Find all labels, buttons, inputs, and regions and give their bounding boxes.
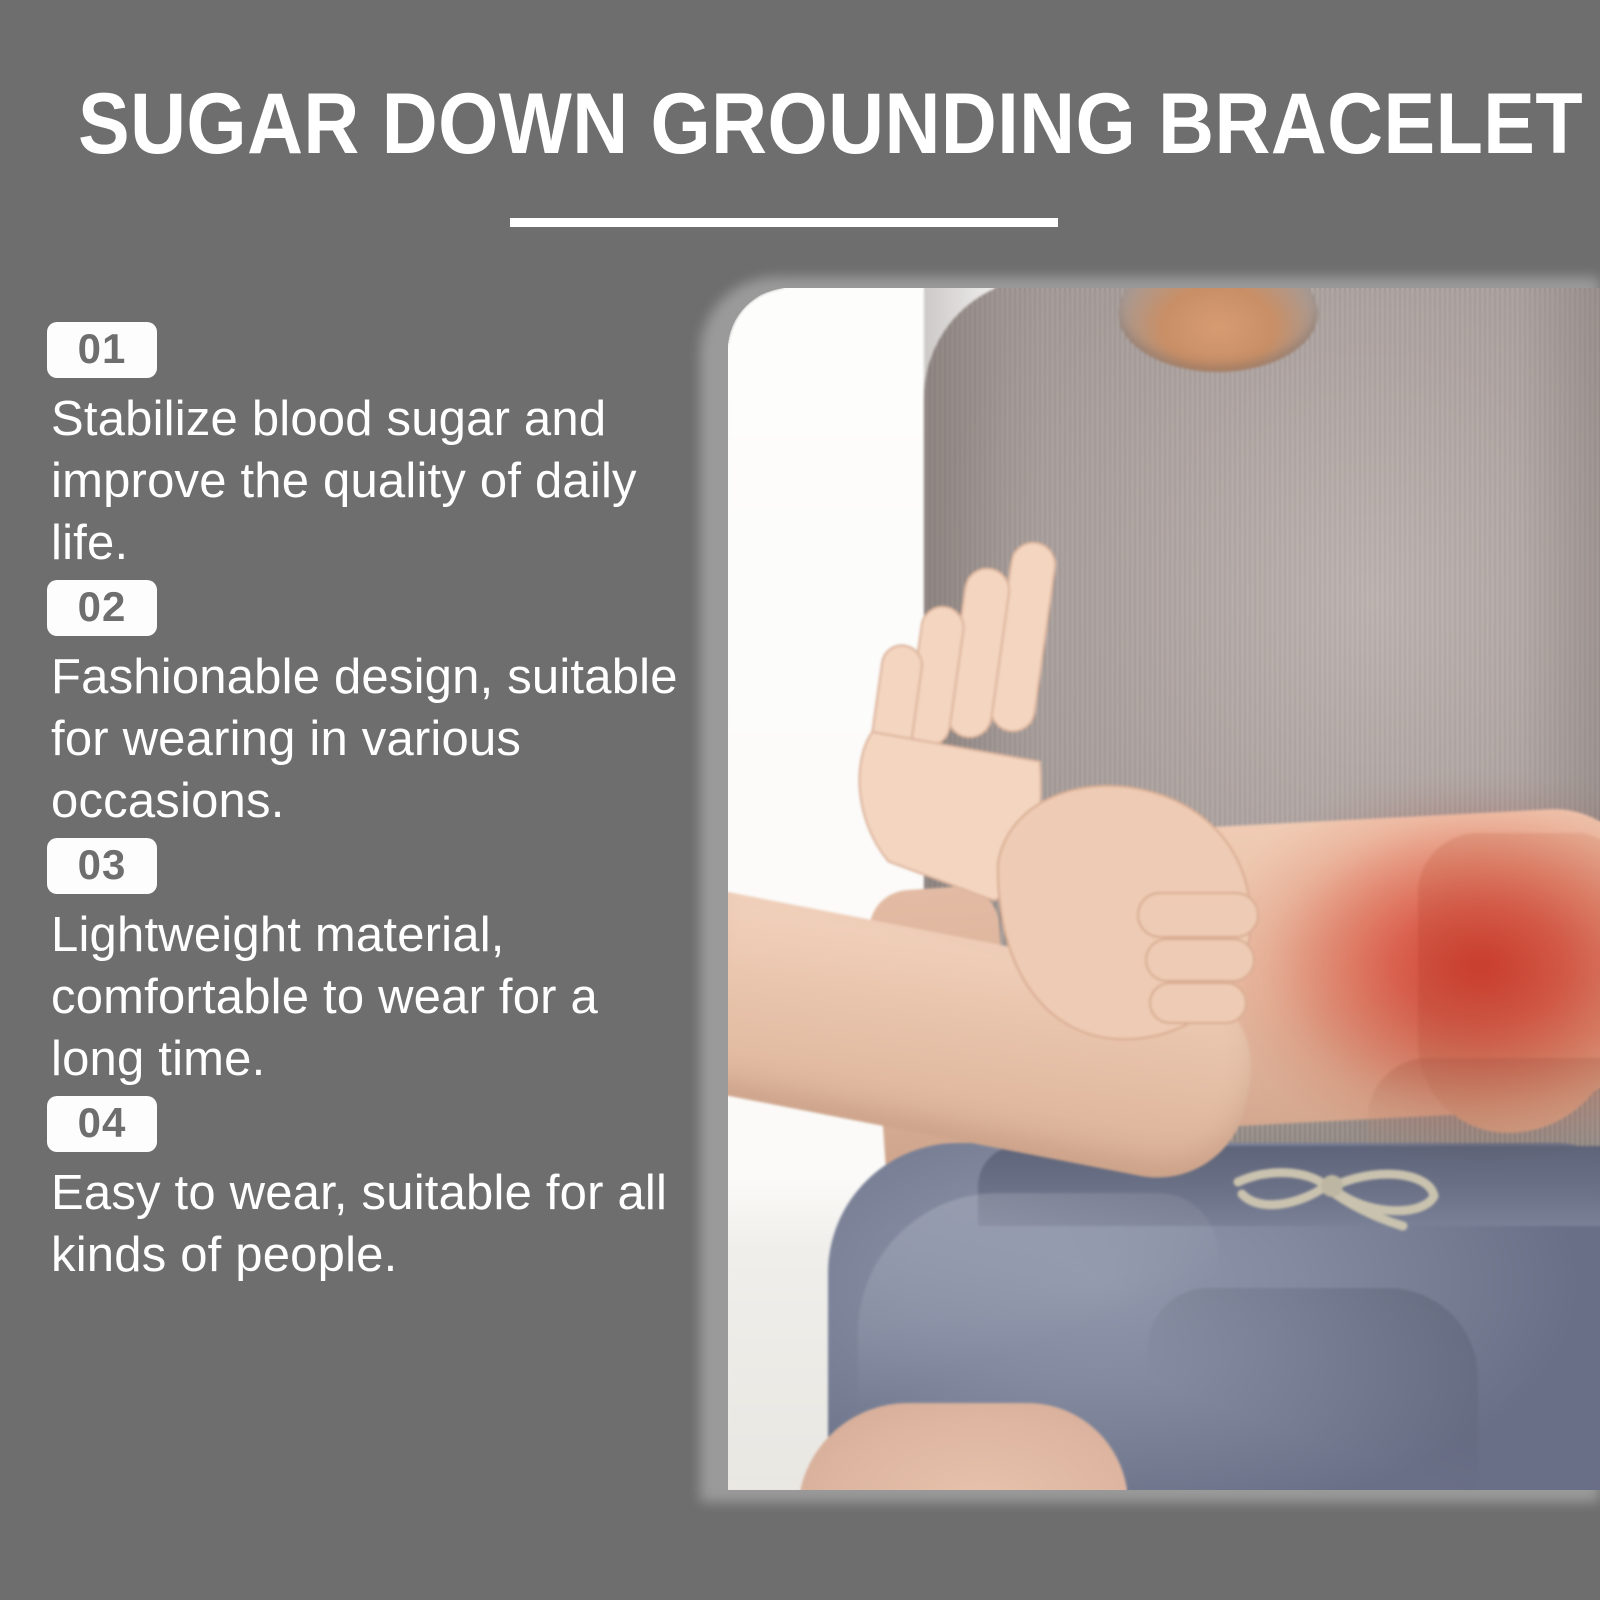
photo-shorts-shadow xyxy=(1148,1288,1478,1490)
feature-item-04: 04 Easy to wear, suitable for all kinds … xyxy=(47,1096,687,1286)
poster-canvas: SUGAR DOWN GROUNDING BRACELET 01 Stabili… xyxy=(0,0,1600,1600)
feature-number-badge: 04 xyxy=(47,1096,157,1152)
photo-panel xyxy=(728,288,1600,1490)
feature-description: Fashionable design, suitable for wearing… xyxy=(51,646,687,832)
photo-drawstring-bow xyxy=(1198,1160,1468,1240)
feature-item-03: 03 Lightweight material, comfortable to … xyxy=(47,838,687,1090)
feature-description: Stabilize blood sugar and improve the qu… xyxy=(51,388,687,574)
feature-number-badge: 03 xyxy=(47,838,157,894)
feature-number-badge: 02 xyxy=(47,580,157,636)
feature-item-02: 02 Fashionable design, suitable for wear… xyxy=(47,580,687,832)
photo-gripping-hand xyxy=(988,743,1278,1073)
product-lifestyle-photo xyxy=(728,288,1600,1490)
feature-description: Easy to wear, suitable for all kinds of … xyxy=(51,1162,687,1286)
feature-number-badge: 01 xyxy=(47,322,157,378)
page-title: SUGAR DOWN GROUNDING BRACELET xyxy=(78,74,1482,174)
title-divider xyxy=(510,218,1058,227)
feature-description: Lightweight material, comfortable to wea… xyxy=(51,904,687,1090)
feature-list: 01 Stabilize blood sugar and improve the… xyxy=(47,322,687,1292)
feature-item-01: 01 Stabilize blood sugar and improve the… xyxy=(47,322,687,574)
